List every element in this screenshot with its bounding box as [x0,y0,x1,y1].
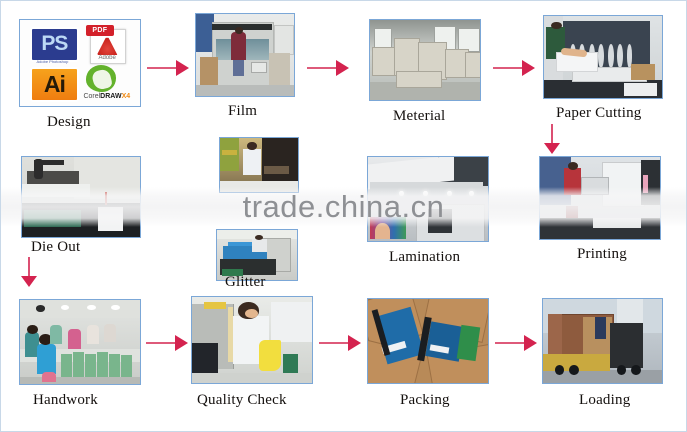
step-label-die-out: Die Out [31,239,80,256]
photoshop-caption: Adobe Photoshop [30,59,76,66]
step-photo-packing [367,298,489,384]
step-label-glitter: Glitter [225,274,266,291]
right-arrow-icon-after-meterial [493,58,535,78]
step-photo-quality-check [191,296,313,384]
pdf-badge-label: PDF [86,25,114,36]
step-label-meterial: Meterial [393,108,445,125]
photoshop-icon: PS [30,27,80,62]
coreldraw-prefix: Corel [83,93,100,100]
right-arrow-icon-after-packing [495,333,537,353]
step-photo-handwork [19,299,141,385]
step-photo-printing [539,156,661,240]
pdf-icon: PDF Adobe [85,25,131,63]
right-arrow-icon-after-film [307,58,349,78]
step-photo-lamination [367,156,489,242]
step-label-design: Design [47,114,91,131]
step-photo-design: PS Adobe Photoshop Ai PDF Adobe Corel DR… [19,19,141,107]
step-label-handwork: Handwork [33,392,98,409]
right-arrow-icon-after-handwork [146,333,188,353]
step-photo-loading [542,298,663,384]
step-label-film: Film [228,103,257,120]
coreldraw-mark: DRAW [100,93,121,100]
coreldraw-suffix: X4 [122,93,131,100]
step-photo-meterial [369,19,481,101]
down-arrow-icon-after-paper-cutting [542,124,562,154]
step-label-paper-cutting: Paper Cutting [556,105,642,122]
step-label-loading: Loading [579,392,630,409]
right-arrow-icon-after-design [147,58,189,78]
step-photo-glitter-upper [219,137,299,193]
coreldraw-icon: Corel DRAW X4 [82,65,135,101]
down-arrow-icon-after-die-out [19,257,39,287]
step-photo-die-out [21,156,141,238]
pdf-brand-label: Adobe [98,55,125,61]
step-label-packing: Packing [400,392,450,409]
step-label-printing: Printing [577,246,627,263]
step-photo-film [195,13,295,97]
step-photo-paper-cutting [543,15,663,99]
step-label-lamination: Lamination [389,249,460,266]
illustrator-icon: Ai [30,67,80,102]
step-label-quality-check: Quality Check [197,392,287,409]
flow-chart-canvas: PS Adobe Photoshop Ai PDF Adobe Corel DR… [0,0,687,432]
right-arrow-icon-after-quality-check [319,333,361,353]
